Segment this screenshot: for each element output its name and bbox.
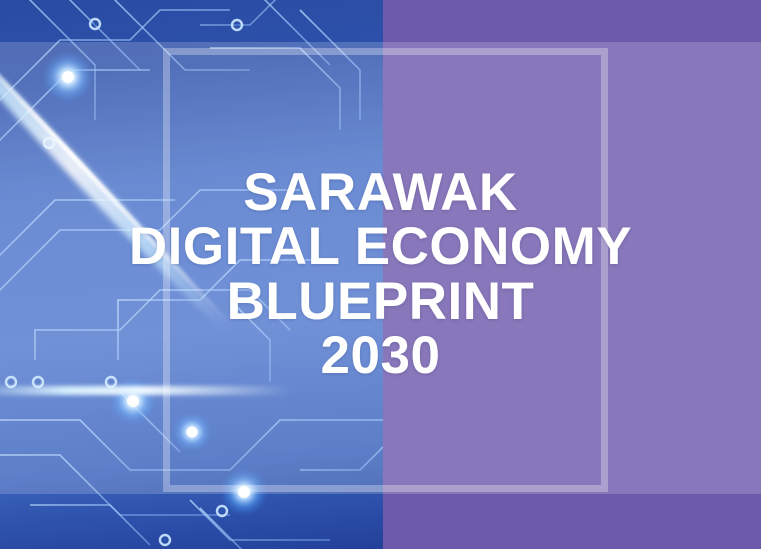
poster-title-block: SARAWAK DIGITAL ECONOMY BLUEPRINT 2030 [0, 0, 761, 549]
poster-canvas: SARAWAK DIGITAL ECONOMY BLUEPRINT 2030 [0, 0, 761, 549]
title-line-2: DIGITAL ECONOMY [129, 220, 632, 274]
title-line-4: 2030 [321, 329, 441, 383]
title-line-3: BLUEPRINT [227, 275, 535, 329]
title-line-1: SARAWAK [243, 166, 517, 220]
